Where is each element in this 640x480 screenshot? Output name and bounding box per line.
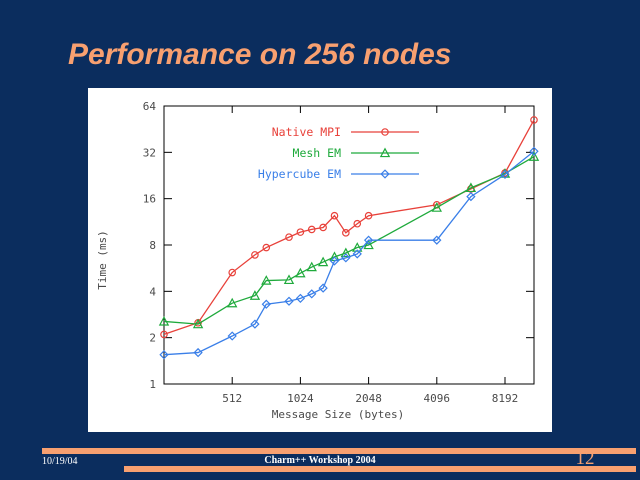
x-tick-label: 512 bbox=[222, 392, 242, 405]
legend-label-2: Mesh EM bbox=[293, 146, 342, 160]
y-tick-label: 32 bbox=[143, 146, 156, 159]
y-tick-label: 2 bbox=[149, 332, 156, 345]
x-tick-label: 2048 bbox=[355, 392, 382, 405]
presentation-slide: Performance on 256 nodes 1248163264 5121… bbox=[0, 0, 640, 480]
x-tick-label: 8192 bbox=[492, 392, 519, 405]
footer-accent-bar-bottom bbox=[124, 466, 636, 472]
y-axis-label: Time (ms) bbox=[96, 230, 109, 290]
y-tick-label: 16 bbox=[143, 193, 156, 206]
footer-accent-bar-top bbox=[42, 448, 636, 454]
x-tick-label: 4096 bbox=[424, 392, 451, 405]
page-title: Performance on 256 nodes bbox=[68, 38, 451, 72]
legend-label-3: Hypercube EM bbox=[258, 167, 341, 181]
footer-event-name: Charm++ Workshop 2004 bbox=[0, 455, 640, 466]
chart-panel: 1248163264 5121024204840968192 Time (ms)… bbox=[88, 88, 552, 432]
legend-label-1: Native MPI bbox=[272, 125, 341, 139]
x-tick-label: 1024 bbox=[287, 392, 314, 405]
y-tick-label: 1 bbox=[149, 378, 156, 391]
y-tick-label: 8 bbox=[149, 239, 156, 252]
performance-line-chart: 1248163264 5121024204840968192 Time (ms)… bbox=[88, 88, 552, 432]
y-tick-label: 64 bbox=[143, 100, 157, 113]
chart-background bbox=[88, 88, 552, 432]
x-axis-label: Message Size (bytes) bbox=[272, 408, 404, 421]
slide-number: 12 bbox=[570, 448, 600, 470]
y-tick-label: 4 bbox=[149, 285, 156, 298]
